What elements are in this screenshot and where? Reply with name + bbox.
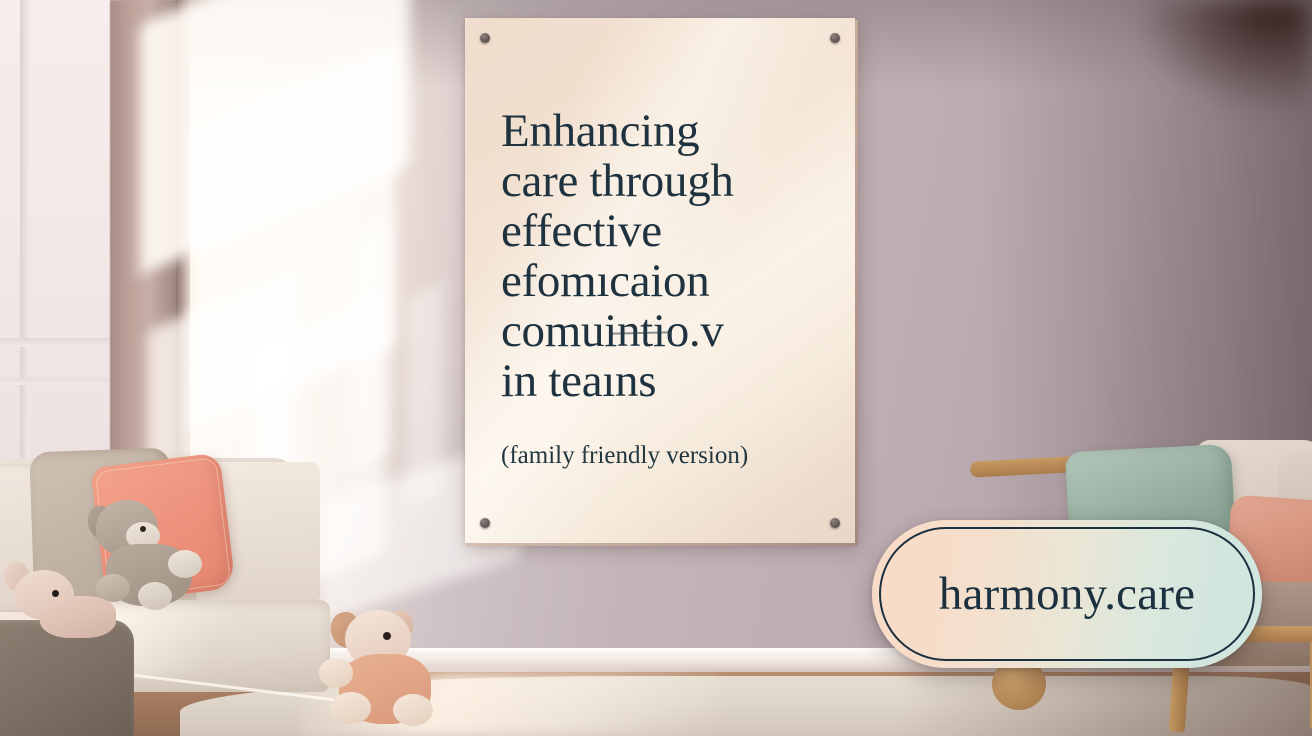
poster-subtitle: (family friendly version) [501,442,823,470]
wall-poster[interactable]: Enhancing care through effective efomıca… [465,18,855,543]
plush-eye [52,590,59,597]
floor-plush-bear [325,610,455,732]
plush-body [40,596,116,638]
plush-limb [168,550,202,578]
plush-limb [138,582,172,610]
headline-line-1: Enhancing [501,106,823,156]
pink-plush-bunny [0,566,116,642]
left-sofa [0,448,320,736]
poster-edge-bottom [467,543,857,546]
poster-edge-right [855,20,858,545]
pin-icon [480,518,490,528]
window-mullion-horizontal-2 [0,378,118,385]
headline-line-4: efomıcaion [501,256,823,306]
window-mullion-horizontal [0,338,118,347]
plush-paw [393,694,433,726]
plush-paw [319,658,353,688]
sunlight-patch [350,221,390,469]
harmony-care-badge[interactable]: harmony.care [872,520,1262,668]
plush-eye [140,526,146,532]
poster-headline: Enhancing care through effective efomıca… [501,106,823,406]
headline-line-6: in teaıns [501,356,823,406]
plush-paw [331,692,371,724]
window-mullion-vertical [20,0,30,470]
headline-line-2: care through [501,156,823,206]
badge-label: harmony.care [939,567,1195,621]
pin-icon [830,33,840,43]
window-pane [0,0,118,470]
headline-line-3: effective [501,206,823,256]
poster-text-block: Enhancing care through effective efomıca… [501,106,823,470]
pin-icon [830,518,840,528]
plush-eye [383,632,391,640]
room-scene: Enhancing care through effective efomıca… [0,0,1312,736]
pin-icon [480,33,490,43]
corner-dark-object [1142,0,1312,110]
headline-line-5: comuintio.v [501,306,823,356]
